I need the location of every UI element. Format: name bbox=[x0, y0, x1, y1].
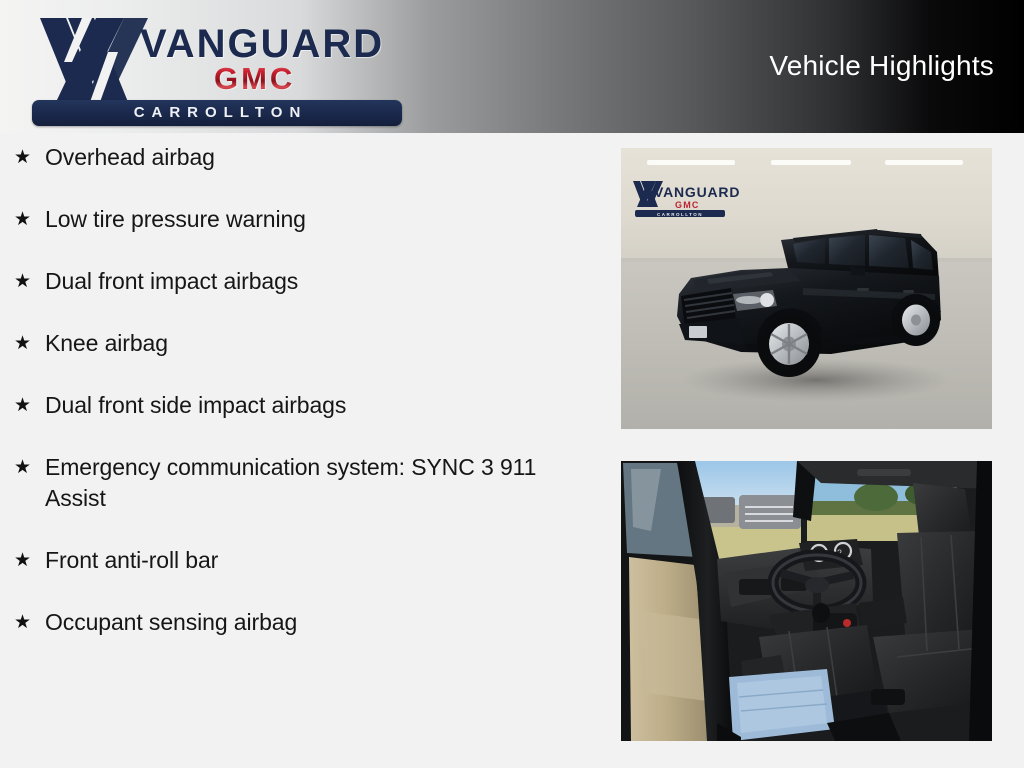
star-bullet-icon: ★ bbox=[14, 266, 45, 297]
list-item: ★ Front anti-roll bar bbox=[0, 545, 610, 576]
brand-city-label: CARROLLTON bbox=[32, 100, 402, 126]
dealer-logo: VANGUARD GMC CARROLLTON bbox=[18, 8, 408, 126]
list-item-label: Low tire pressure warning bbox=[45, 204, 610, 235]
list-item-label: Dual front side impact airbags bbox=[45, 390, 610, 421]
vanguard-xx-monogram-icon bbox=[38, 10, 148, 102]
list-item: ★ Emergency communication system: SYNC 3… bbox=[0, 452, 610, 514]
list-item-label: Emergency communication system: SYNC 3 9… bbox=[45, 452, 610, 514]
star-bullet-icon: ★ bbox=[14, 390, 45, 421]
vehicle-highlights-slide: VANGUARD GMC CARROLLTON Vehicle Highligh… bbox=[0, 0, 1024, 768]
vehicle-features-list: ★ Overhead airbag ★ Low tire pressure wa… bbox=[0, 142, 610, 762]
showroom-wall-logo: VANGUARD GMC CARROLLTON bbox=[633, 181, 740, 217]
vehicle-interior-photo: 3 2 bbox=[621, 461, 992, 741]
vehicle-exterior-photo: VANGUARD GMC CARROLLTON bbox=[621, 148, 992, 429]
list-item: ★ Dual front impact airbags bbox=[0, 266, 610, 297]
list-item-label: Knee airbag bbox=[45, 328, 610, 359]
star-bullet-icon: ★ bbox=[14, 204, 45, 235]
list-item: ★ Knee airbag bbox=[0, 328, 610, 359]
list-item-label: Occupant sensing airbag bbox=[45, 607, 610, 638]
slide-header: VANGUARD GMC CARROLLTON Vehicle Highligh… bbox=[0, 0, 1024, 133]
list-item: ★ Low tire pressure warning bbox=[0, 204, 610, 235]
star-bullet-icon: ★ bbox=[14, 607, 45, 638]
brand-make-gmc: GMC bbox=[214, 63, 295, 94]
list-item-label: Dual front impact airbags bbox=[45, 266, 610, 297]
star-bullet-icon: ★ bbox=[14, 545, 45, 576]
star-bullet-icon: ★ bbox=[14, 328, 45, 359]
list-item-label: Front anti-roll bar bbox=[45, 545, 610, 576]
page-title: Vehicle Highlights bbox=[769, 50, 994, 82]
star-bullet-icon: ★ bbox=[14, 142, 45, 173]
brand-city-bar: CARROLLTON bbox=[32, 100, 402, 126]
list-item: ★ Occupant sensing airbag bbox=[0, 607, 610, 638]
star-bullet-icon: ★ bbox=[14, 452, 45, 483]
list-item-label: Overhead airbag bbox=[45, 142, 610, 173]
list-item: ★ Dual front side impact airbags bbox=[0, 390, 610, 421]
svg-text:CARROLLTON: CARROLLTON bbox=[657, 212, 703, 217]
brand-wordmark: VANGUARD bbox=[140, 24, 384, 64]
svg-text:VANGUARD: VANGUARD bbox=[654, 184, 740, 200]
svg-text:GMC: GMC bbox=[675, 200, 700, 210]
list-item: ★ Overhead airbag bbox=[0, 142, 610, 173]
